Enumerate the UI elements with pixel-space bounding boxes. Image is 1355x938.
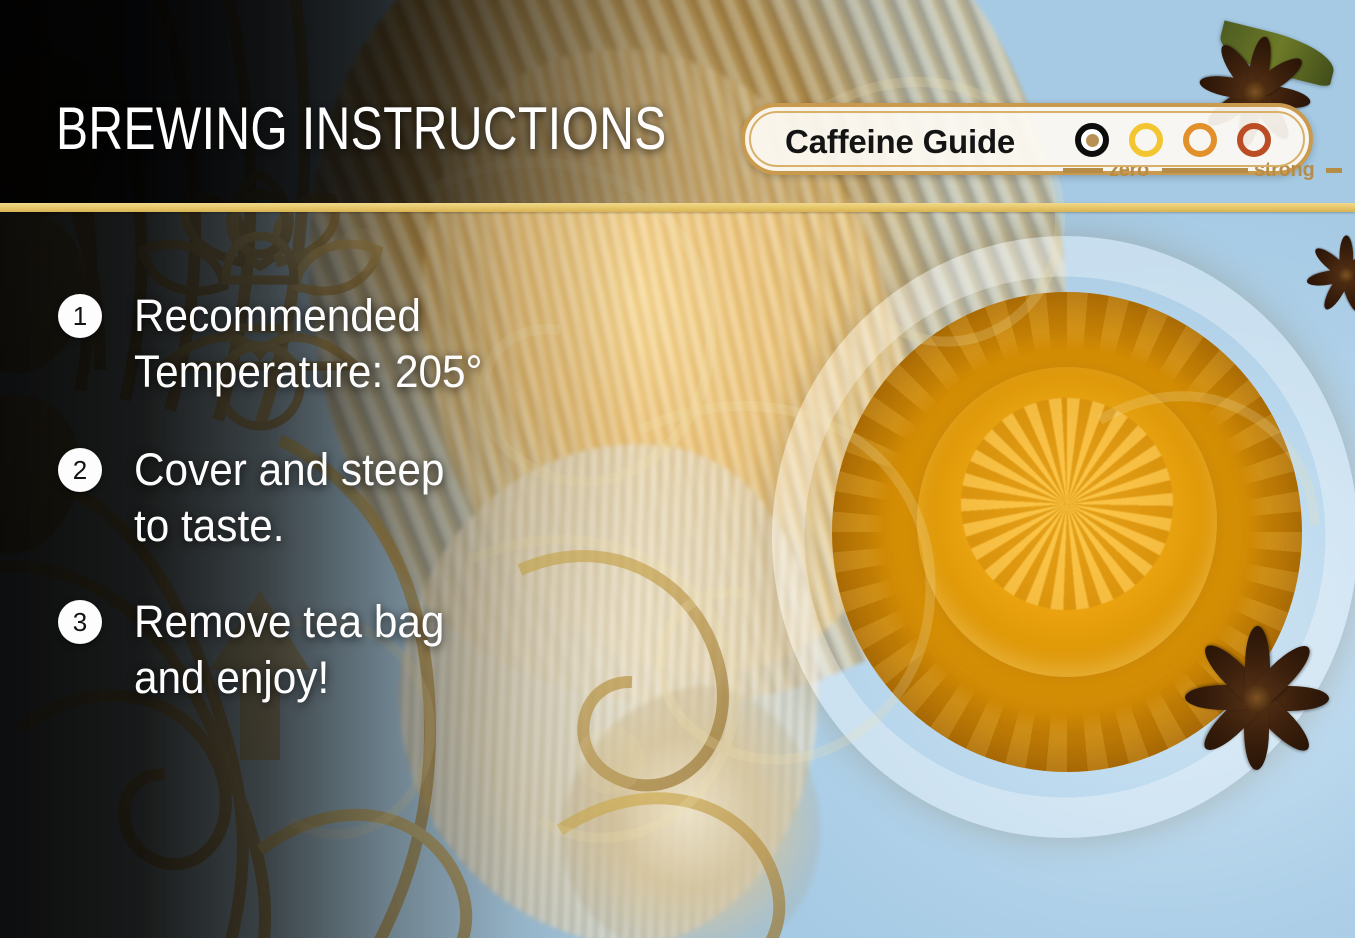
scale-label-zero: zero: [1109, 160, 1149, 180]
scale-label-strong: strong: [1254, 160, 1314, 180]
step-text: Cover and steep to taste.: [134, 442, 645, 554]
star-anise-icon: [1162, 610, 1352, 785]
caffeine-level-low-icon[interactable]: [1129, 123, 1163, 157]
scale-rule-left: [1063, 168, 1103, 173]
caffeine-level-medium-icon[interactable]: [1183, 123, 1217, 157]
caffeine-level-indicators: [1075, 123, 1271, 157]
step-number-badge: 2: [58, 448, 102, 492]
caffeine-level-strong-icon[interactable]: [1237, 123, 1271, 157]
page-title: BREWING INSTRUCTIONS: [56, 99, 667, 159]
star-anise-right-edge-icon: [1298, 232, 1355, 318]
caffeine-guide-badge: Caffeine Guide zero strong: [741, 103, 1313, 175]
caffeine-level-zero-icon[interactable]: [1075, 123, 1109, 157]
brewing-instructions-card: BREWING INSTRUCTIONS Caffeine Guide zero…: [0, 0, 1355, 938]
teacup-image: [772, 236, 1355, 838]
list-item: 2 Cover and steep to taste.: [58, 442, 678, 554]
list-item: 1 Recommended Temperature: 205°: [58, 288, 678, 400]
caffeine-guide-label: Caffeine Guide: [785, 121, 1015, 163]
scale-rule-middle: [1162, 168, 1248, 173]
list-item: 3 Remove tea bag and enjoy!: [58, 594, 678, 706]
brewing-steps-list: 1 Recommended Temperature: 205° 2 Cover …: [58, 288, 678, 740]
glass-starburst-pattern: [961, 398, 1173, 610]
step-number-badge: 3: [58, 600, 102, 644]
tea-liquid: [832, 292, 1302, 772]
gold-divider-rule: [0, 203, 1355, 212]
scale-rule-right: [1326, 168, 1342, 173]
step-text: Recommended Temperature: 205°: [134, 288, 645, 400]
caffeine-scale-legend: zero strong: [1063, 159, 1321, 181]
step-text: Remove tea bag and enjoy!: [134, 594, 645, 706]
step-number-badge: 1: [58, 294, 102, 338]
